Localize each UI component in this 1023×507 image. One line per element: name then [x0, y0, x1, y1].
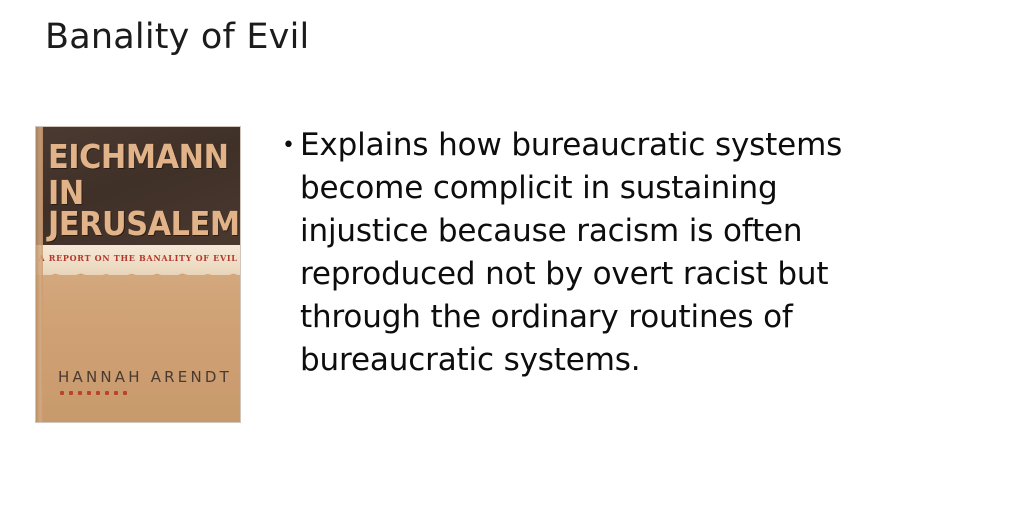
cover-dot-row-icon [60, 391, 127, 395]
cover-subtitle-text: A REPORT ON THE BANALITY OF EVIL [38, 253, 237, 263]
page-title: Banality of Evil [45, 16, 945, 60]
cover-author-text: HANNAH ARENDT [58, 368, 232, 386]
cover-title-line-1: EICHMANN [48, 137, 229, 176]
cover-title-text: EICHMANN IN JERUSALEM [48, 141, 219, 240]
book-cover-graphic: EICHMANN IN JERUSALEM A REPORT ON THE BA… [36, 127, 240, 422]
book-spine-edge [36, 127, 43, 422]
list-item: • Explains how bureaucratic systems beco… [282, 124, 882, 382]
slide-canvas: Banality of Evil EICHMANN IN JERUSALEM A… [0, 0, 1023, 507]
cover-torn-paper-strip: A REPORT ON THE BANALITY OF EVIL [36, 245, 240, 275]
content-body: • Explains how bureaucratic systems beco… [282, 124, 882, 382]
cover-title-line-2: IN JERUSALEM [48, 177, 219, 240]
book-cover-image: EICHMANN IN JERUSALEM A REPORT ON THE BA… [36, 127, 240, 422]
bullet-point-icon: • [282, 124, 300, 167]
cover-lower-panel: HANNAH ARENDT [36, 275, 240, 422]
list-item-label: Explains how bureaucratic systems become… [300, 124, 882, 382]
